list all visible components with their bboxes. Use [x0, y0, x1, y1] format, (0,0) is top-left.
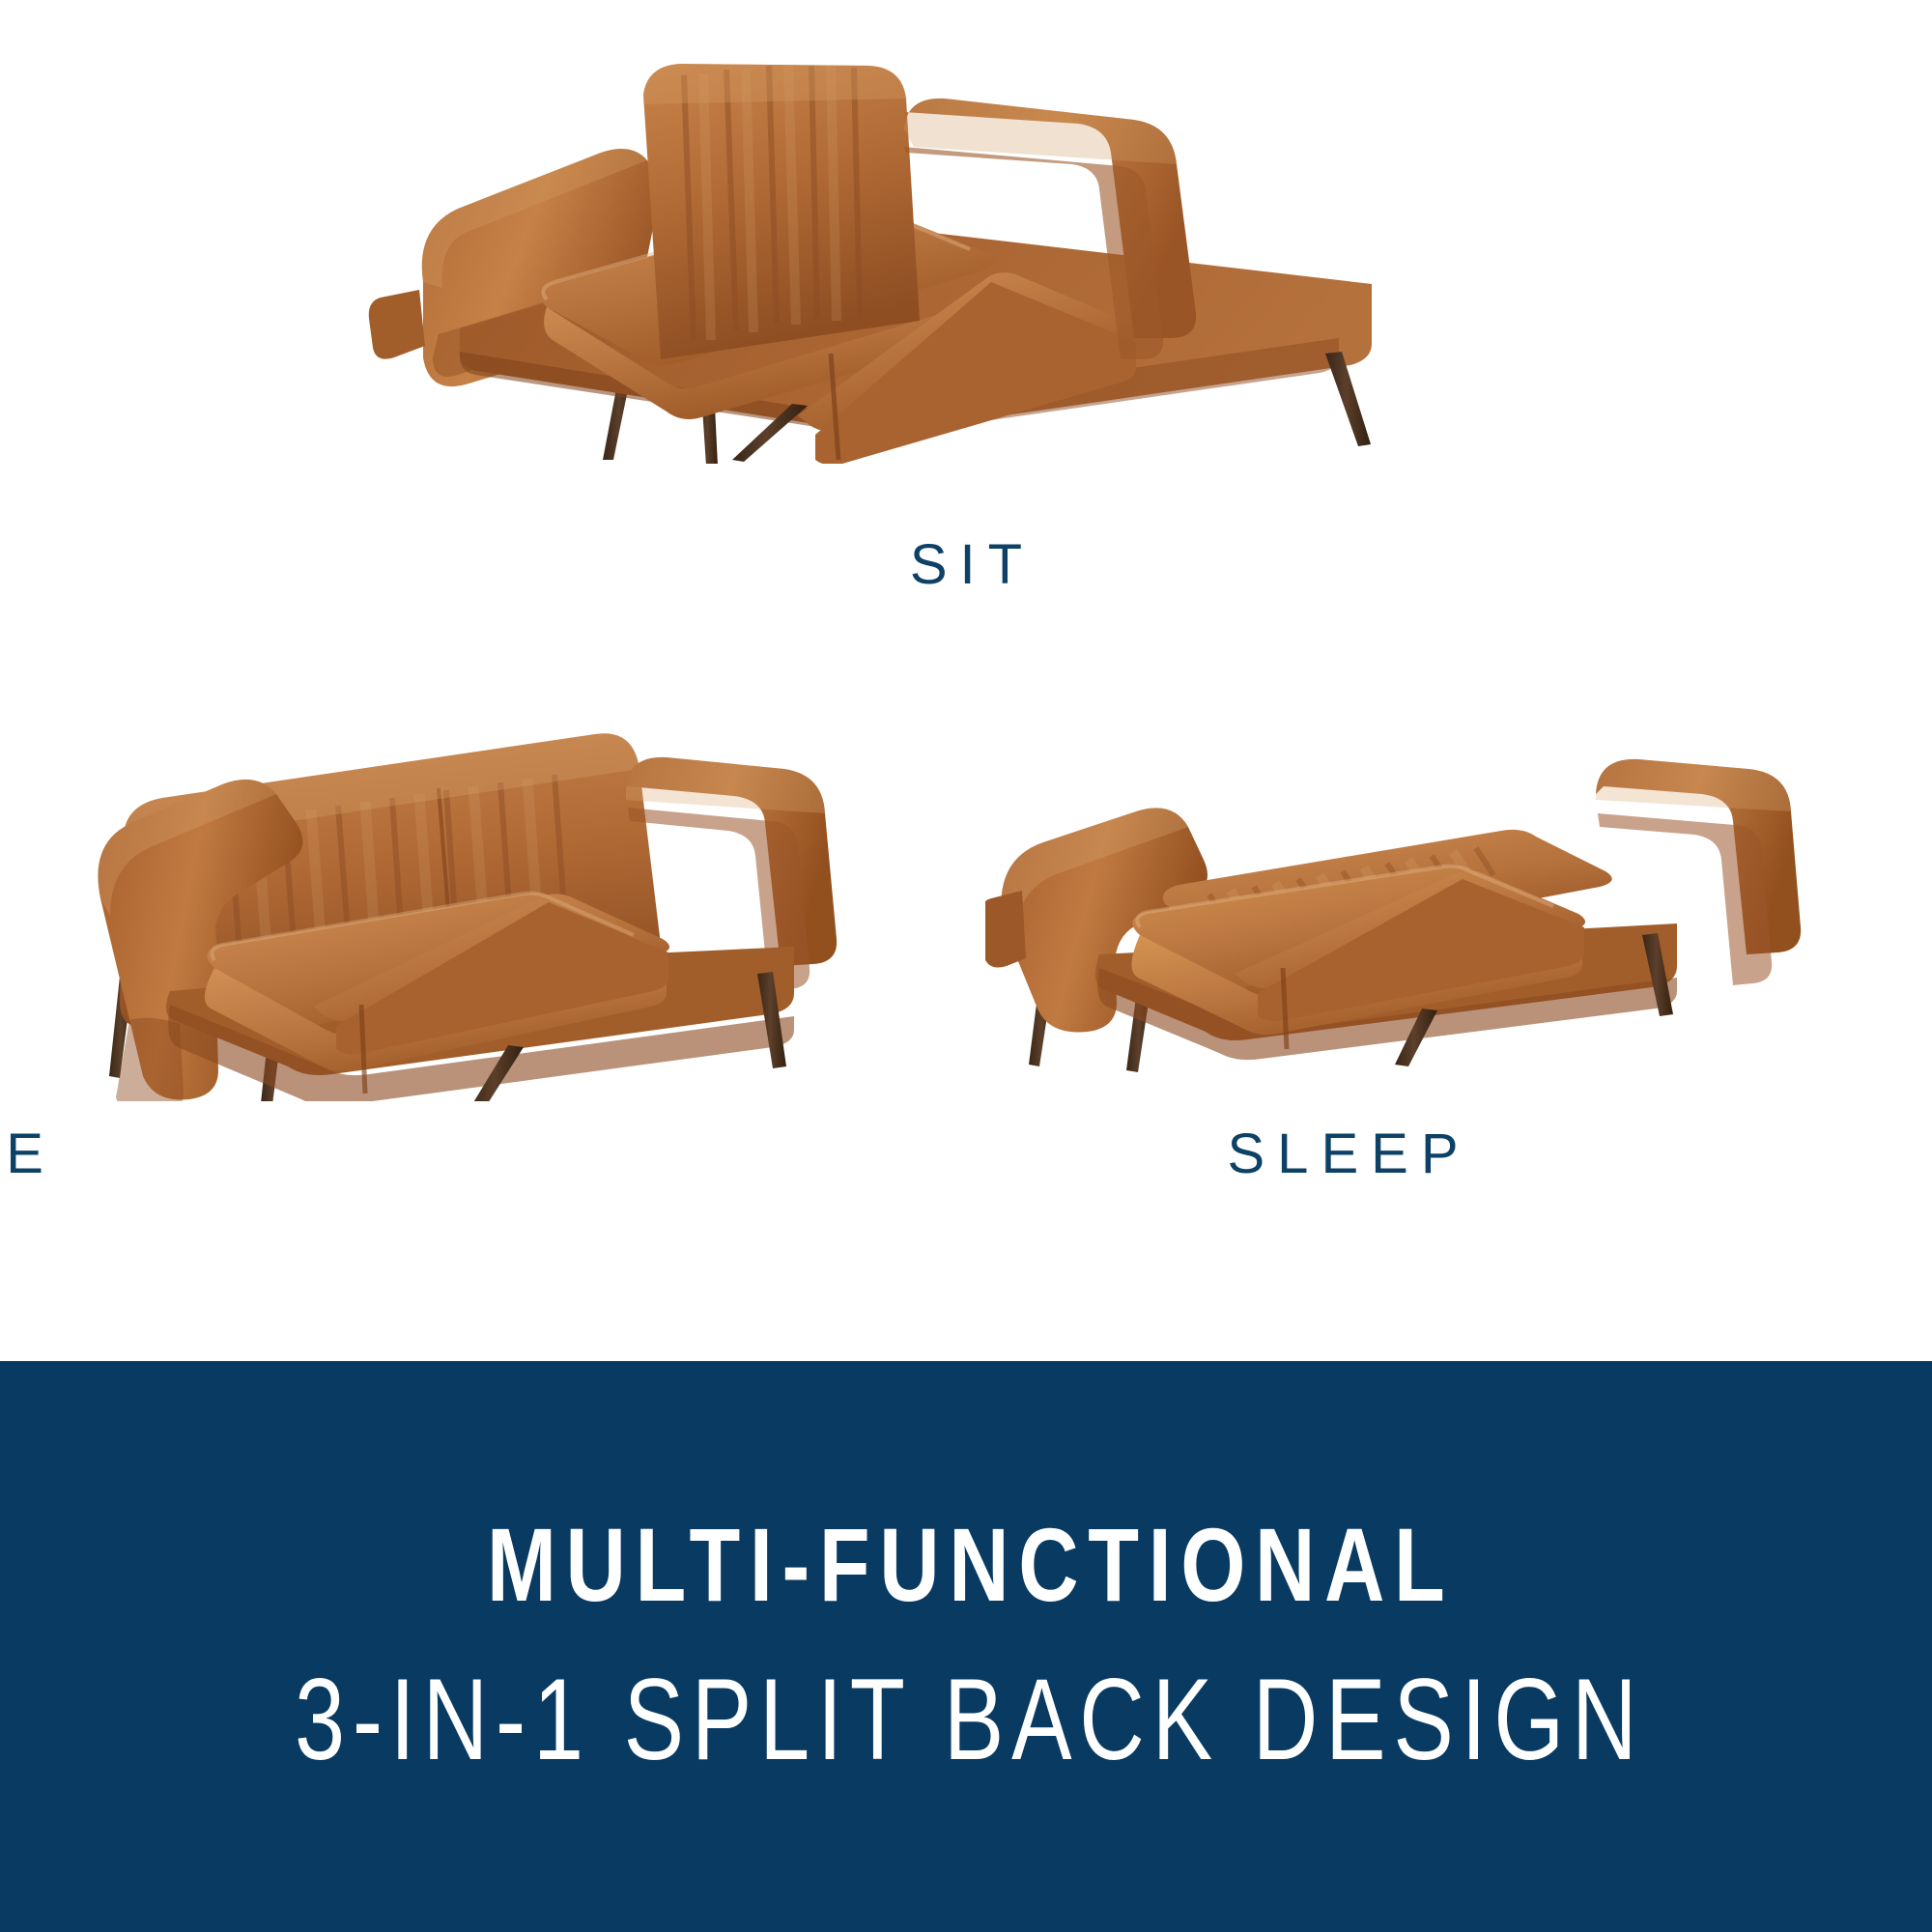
headline-banner: MULTI-FUNCTIONAL 3-IN-1 SPLIT BACK DESIG… [0, 1361, 1932, 1932]
product-panel-sleep [985, 744, 1816, 1072]
sofa-illustration-sleep [985, 744, 1816, 1072]
sofa-back-right-upright [643, 64, 920, 359]
banner-headline: MULTI-FUNCTIONAL [478, 1510, 1455, 1619]
product-images-area: SIT [0, 0, 1932, 1361]
product-panel-sit [367, 58, 1565, 464]
product-panel-lounge [87, 715, 860, 1101]
sofa-illustration-sit [367, 58, 1565, 464]
caption-sleep: SLEEP [377, 1126, 1932, 1182]
banner-subheadline: 3-IN-1 SPLIT BACK DESIGN [287, 1656, 1644, 1783]
caption-sit: SIT [0, 537, 1932, 593]
infographic-canvas: SIT [0, 0, 1932, 1932]
sofa-illustration-lounge [87, 715, 860, 1101]
